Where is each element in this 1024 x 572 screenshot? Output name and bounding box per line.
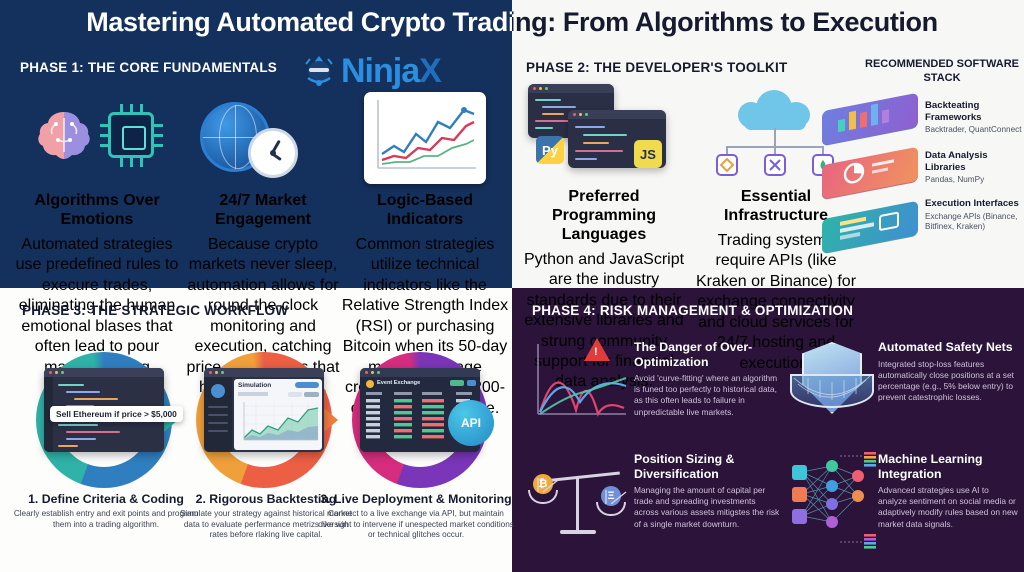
- code-editor-tooltip: Sell Ethereum if price > $5,000: [50, 406, 183, 422]
- infographic-root: Mastering Automated Crypto Trading: From…: [0, 0, 1024, 572]
- workflow-step-1-title: 1. Define Criteria & Coding: [8, 492, 204, 506]
- cloud-icon: [738, 88, 812, 128]
- phase-4-card-4: Machine Learning Integration Advanced st…: [878, 452, 1018, 530]
- stack-item-2: Data Analysis Libraries Pandas, NumPy: [925, 150, 1024, 185]
- simulation-dashboard-icon: Simulation: [204, 368, 324, 452]
- phase-1-card-3-title: Logic-Based Indicators: [340, 192, 510, 230]
- stack-item-1: Backteating Frameworks Backtrader, Quant…: [925, 100, 1024, 135]
- software-stack-header: RECOMMENDED SOFTWARE STACK: [860, 58, 1024, 86]
- stack-item-1-title: Backteating Frameworks: [925, 100, 1024, 123]
- phase-4-card-3-body: Managing the amount of capital per trade…: [634, 485, 782, 530]
- stack-item-3-title: Execution Interfaces: [925, 198, 1024, 210]
- phase-1-header: PHASE 1: THE CORE FUNDAMENTALS: [20, 60, 277, 75]
- stack-item-1-sub: Backtrader, QuantConnect: [925, 125, 1024, 135]
- phase-1-card-2-title: 24/7 Market Engagement: [178, 192, 348, 230]
- phase-2-header: PHASE 2: THE DEVELOPER'S TOOLKIT: [526, 60, 787, 75]
- workflow-step-3: 3. Live Deployment & Monitoring Connect …: [318, 492, 514, 541]
- ninjax-wordmark: NinjaX: [341, 52, 441, 91]
- phase-4-card-1-body: Avoid 'curve-fitting' where an algorithm…: [634, 373, 782, 418]
- shield-safety-net-icon: [788, 334, 876, 432]
- line-chart-icon: [350, 88, 500, 186]
- workflow-step-3-body: Connect to a live exchange via API, but …: [318, 509, 514, 541]
- software-stack-art: [818, 96, 926, 266]
- globe-clock-icon: [196, 92, 326, 184]
- stack-item-2-sub: Pandas, NumPy: [925, 175, 1024, 185]
- stack-item-3-sub: Exchange APIs (Binance, Bitfinex, Kraken…: [925, 212, 1024, 232]
- phase-4-card-1-title: The Danger of Over-Optimization: [634, 340, 782, 369]
- overfit-curve-warning-icon: !: [524, 334, 632, 432]
- phase-4-card-4-body: Advanced strategies use AI to analyze se…: [878, 485, 1018, 530]
- phase-2-card-1-title: Preferred Programming Languages: [518, 188, 690, 245]
- logo-text-ninja: Ninja: [341, 52, 419, 90]
- balance-scale-icon: ₿ Ξ: [524, 450, 632, 554]
- phase-4-card-1: The Danger of Over-Optimization Avoid 'c…: [634, 340, 782, 418]
- phase-1-card-1-title: Algorithms Over Emotions: [8, 192, 186, 230]
- stack-slab-3: [822, 210, 918, 256]
- phase-4-card-2-body: Integrated stop-loss features automatica…: [878, 359, 1018, 404]
- code-windows-icon: Py JS: [528, 84, 678, 184]
- phase-4-card-3: Position Sizing & Diversification Managi…: [634, 452, 782, 530]
- workflow-step-3-title: 3. Live Deployment & Monitoring: [318, 492, 514, 506]
- infra-node-1: [716, 154, 738, 176]
- simulation-panel-label: Simulation: [238, 382, 271, 389]
- javascript-badge: JS: [634, 140, 662, 168]
- stack-item-2-title: Data Analysis Libraries: [925, 150, 1024, 173]
- api-badge-label: API: [461, 416, 481, 430]
- neural-network-icon: [788, 450, 876, 554]
- stack-slab-1: [822, 102, 918, 148]
- phase-4-card-2: Automated Safety Nets Integrated stop-lo…: [878, 340, 1018, 403]
- phase-3-header: PHASE 3: THE STRATEGIC WORKFLOW: [22, 303, 288, 318]
- api-badge-icon: API: [448, 400, 494, 446]
- exchange-panel-label: Event Exchange: [377, 380, 420, 386]
- brain-chip-icon: [28, 92, 168, 184]
- phase-4-header: PHASE 4: RISK MANAGEMENT & OPTIMIZATION: [532, 303, 853, 318]
- ninja-mask-icon: [300, 52, 338, 90]
- phase-4-card-3-title: Position Sizing & Diversification: [634, 452, 782, 481]
- workflow-step-1-body: Clearly establish entry and exit points …: [8, 509, 204, 530]
- stack-slab-2: [822, 156, 918, 202]
- stack-item-3: Execution Interfaces Exchange APIs (Bina…: [925, 198, 1024, 232]
- python-badge: Py: [536, 136, 564, 164]
- phase-4-card-4-title: Machine Learning Integration: [878, 452, 1018, 481]
- logo-text-x: X: [419, 52, 441, 90]
- infra-node-2: [764, 154, 786, 176]
- ninjax-logo: NinjaX: [300, 46, 515, 96]
- phase-4-card-2-title: Automated Safety Nets: [878, 340, 1018, 355]
- workflow-step-1: 1. Define Criteria & Coding Clearly esta…: [8, 492, 204, 530]
